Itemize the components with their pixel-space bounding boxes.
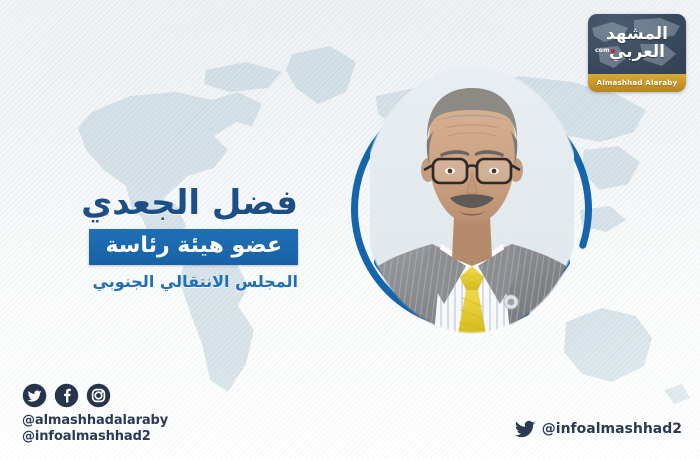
subject-text-block: فضل الجعدي عضو هيئة رئاسة المجلس الانتقا…: [0, 186, 320, 291]
footer-twitter[interactable]: @infoalmashhad2: [515, 419, 682, 439]
subject-name: فضل الجعدي: [0, 186, 298, 222]
logo-latin-caption: Almashhad Alaraby: [597, 79, 678, 87]
logo-caption-band: Almashhad Alaraby: [588, 74, 686, 92]
logo-arabic-text: المشهد العربي: [588, 26, 686, 62]
logo-com-label: com: [595, 47, 610, 54]
subject-organization: المجلس الانتقالي الجنوبي: [0, 273, 298, 291]
news-graphic-card: فضل الجعدي عضو هيئة رئاسة المجلس الانتقا…: [0, 0, 700, 459]
twitter-icon[interactable]: [22, 383, 47, 408]
instagram-icon[interactable]: [86, 383, 111, 408]
social-block: @almashhadalaraby @infoalmashhad2: [22, 383, 168, 446]
facebook-icon[interactable]: [54, 383, 79, 408]
social-icons: [22, 383, 168, 408]
twitter-bird-icon: [515, 419, 535, 439]
logo-red-dot: [611, 49, 615, 53]
footer-twitter-handle: @infoalmashhad2: [542, 421, 682, 437]
portrait-container: [352, 66, 592, 338]
social-handles: @almashhadalaraby @infoalmashhad2: [22, 413, 168, 446]
logo-panel: المشهد العربي com: [588, 14, 686, 74]
portrait-photo: [370, 66, 574, 334]
handle-primary: @almashhadalaraby: [22, 413, 168, 429]
brand-logo[interactable]: المشهد العربي com Almashhad Alaraby: [588, 14, 686, 92]
subject-role-banner: عضو هيئة رئاسة: [89, 229, 298, 265]
logo-arabic-line1: المشهد: [588, 26, 686, 43]
handle-secondary: @infoalmashhad2: [22, 429, 168, 445]
